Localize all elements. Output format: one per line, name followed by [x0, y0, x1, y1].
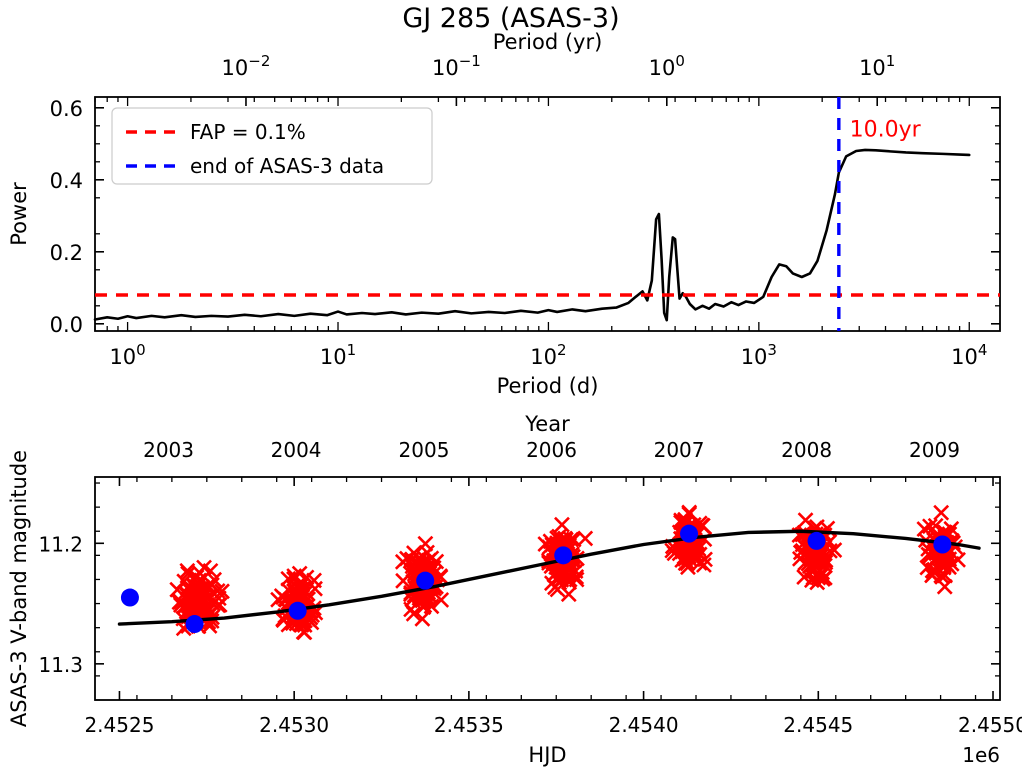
top-tick-label: 10−1	[432, 52, 481, 80]
x-tick-label: 2.4545	[783, 713, 853, 737]
y-tick-label: 11.2	[38, 532, 83, 556]
x-tick-label: 104	[951, 341, 987, 369]
y-axis-label: Power	[7, 182, 31, 246]
measurement-points	[170, 505, 965, 639]
binned-point	[808, 532, 826, 550]
legend-label-0: FAP = 0.1%	[190, 120, 306, 144]
period-annotation: 10.0yr	[850, 118, 922, 143]
year-tick-label: 2008	[781, 438, 832, 462]
top-tick-label: 101	[859, 52, 895, 80]
x-tick-label: 2.4535	[434, 713, 504, 737]
x-axis-offset-label: 1e6	[962, 743, 1000, 767]
data-point-x	[418, 537, 432, 551]
y-axis-label: ASAS-3 V-band magnitude	[7, 450, 31, 727]
periodogram-panel: 100101102103104Period (d)10−210−1100101P…	[7, 30, 1000, 398]
y-tick-label: 0.0	[50, 313, 83, 337]
binned-point	[289, 602, 307, 620]
year-tick-label: 2004	[271, 438, 322, 462]
binned-point	[121, 589, 139, 607]
y-tick-label: 11.3	[38, 653, 83, 677]
x-axis-label: Period (d)	[497, 374, 599, 398]
top-tick-label: 10−2	[222, 52, 271, 80]
binned-point	[554, 546, 572, 564]
x-tick-label: 102	[530, 341, 566, 369]
x-tick-label: 2.4550	[958, 713, 1022, 737]
y-tick-label: 0.2	[50, 241, 83, 265]
x-tick-label: 2.4530	[259, 713, 329, 737]
legend-label-1: end of ASAS-3 data	[190, 154, 384, 178]
data-point-x	[555, 518, 569, 532]
x-tick-label: 2.4540	[609, 713, 679, 737]
binned-point	[186, 615, 204, 633]
figure-canvas: GJ 285 (ASAS-3) 100101102103104Period (d…	[0, 0, 1022, 769]
x-axis-label: HJD	[528, 743, 566, 767]
top-axis-label: Year	[524, 412, 570, 436]
binned-point	[933, 536, 951, 554]
top-axis-label: Period (yr)	[493, 30, 603, 54]
data-point-x	[934, 506, 948, 520]
x-tick-label: 100	[109, 341, 145, 369]
x-tick-label: 2.4525	[84, 713, 154, 737]
y-tick-label: 0.6	[50, 97, 83, 121]
year-tick-label: 2007	[654, 438, 705, 462]
year-tick-label: 2005	[399, 438, 450, 462]
figure-root: GJ 285 (ASAS-3) 100101102103104Period (d…	[0, 0, 1022, 769]
year-tick-label: 2003	[143, 438, 194, 462]
y-tick-label: 0.4	[50, 169, 83, 193]
year-tick-label: 2009	[909, 438, 960, 462]
x-tick-label: 101	[320, 341, 356, 369]
x-tick-label: 103	[741, 341, 777, 369]
binned-point	[680, 525, 698, 543]
data-point-x	[197, 560, 211, 574]
light-curve-panel: 2.45252.45302.45352.45402.45452.4550HJD1…	[7, 412, 1022, 767]
binned-point	[416, 572, 434, 590]
year-tick-label: 2006	[526, 438, 577, 462]
top-tick-label: 100	[649, 52, 685, 80]
